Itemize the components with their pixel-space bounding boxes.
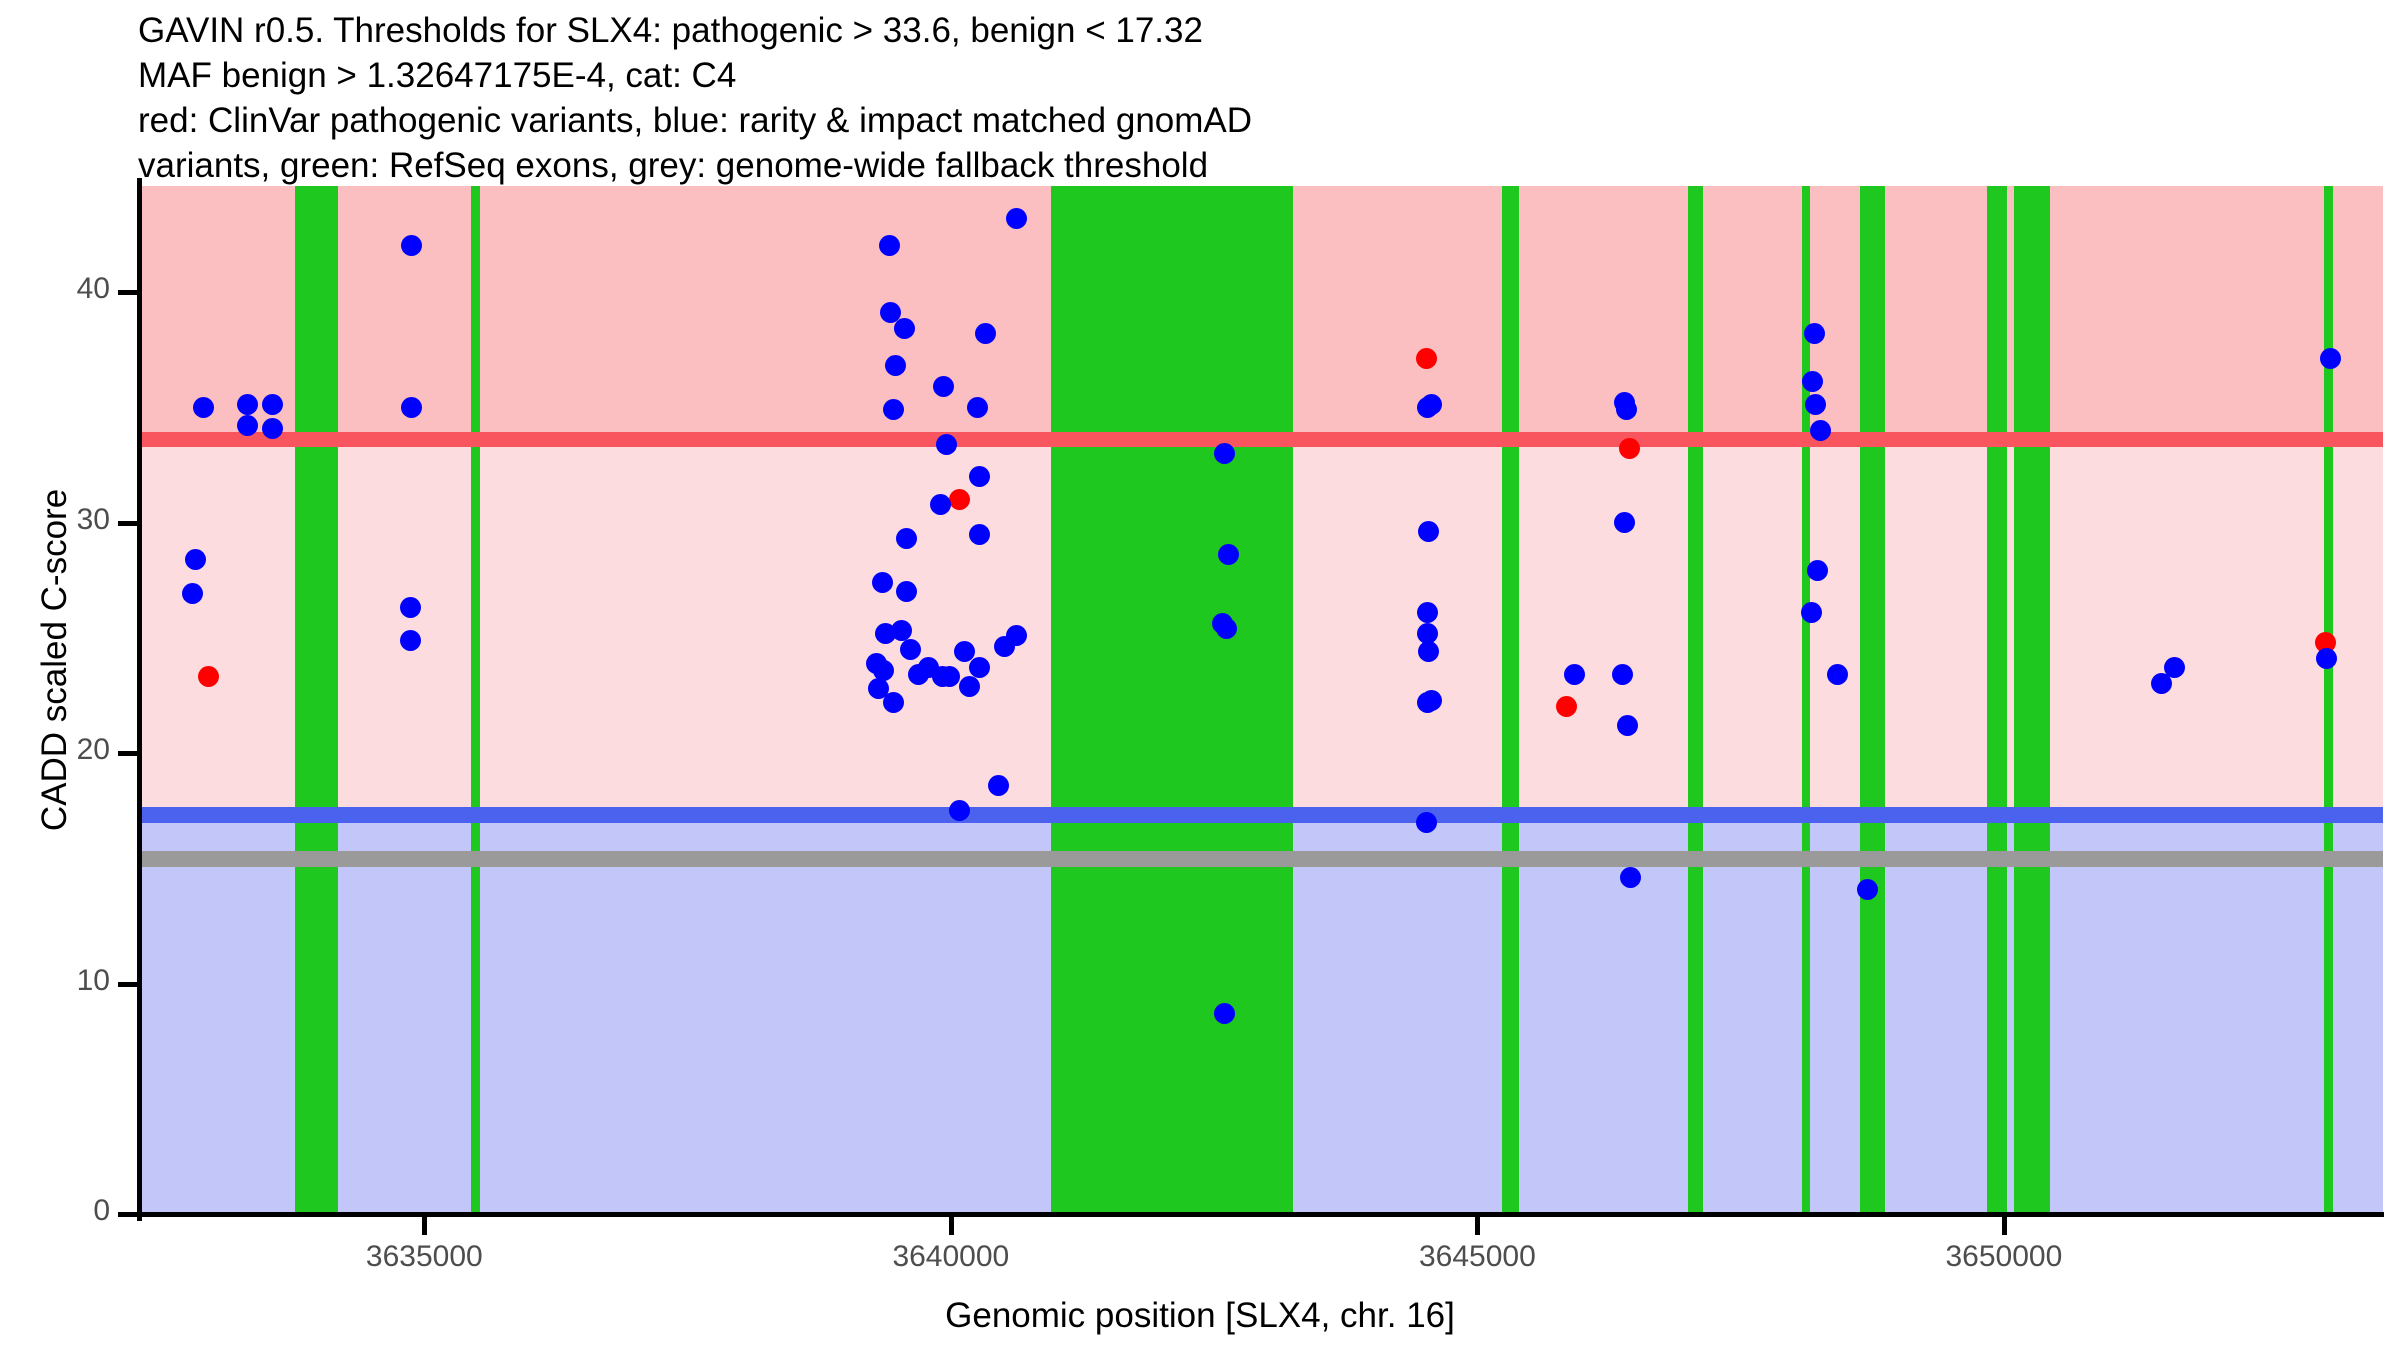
data-point-red — [949, 489, 970, 510]
exon-bar — [1688, 186, 1703, 1214]
data-point-blue — [2316, 648, 2337, 669]
data-point-blue — [401, 397, 422, 418]
data-point-blue — [954, 641, 975, 662]
data-point-blue — [949, 800, 970, 821]
x-tick — [2002, 1217, 2007, 1235]
data-point-blue — [262, 418, 283, 439]
data-point-blue — [936, 434, 957, 455]
data-point-blue — [1802, 371, 1823, 392]
y-tick — [118, 290, 138, 295]
chart-title: GAVIN r0.5. Thresholds for SLX4: pathoge… — [138, 8, 2138, 188]
exon-bar — [1987, 186, 2007, 1214]
data-point-blue — [1620, 867, 1641, 888]
x-tick — [949, 1217, 954, 1235]
x-tick — [422, 1217, 427, 1235]
y-axis-line — [137, 178, 142, 1221]
data-point-blue — [237, 415, 258, 436]
data-point-blue — [868, 678, 889, 699]
data-point-blue — [1801, 602, 1822, 623]
y-tick — [118, 751, 138, 756]
data-point-blue — [1804, 323, 1825, 344]
exon-bar — [2014, 186, 2050, 1214]
x-tick-label: 3650000 — [1884, 1240, 2124, 1274]
data-point-blue — [930, 494, 951, 515]
data-point-blue — [975, 323, 996, 344]
fallback-threshold-line — [140, 851, 2383, 867]
exon-bar — [1502, 186, 1520, 1214]
data-point-blue — [969, 524, 990, 545]
data-point-blue — [193, 397, 214, 418]
y-tick — [118, 982, 138, 987]
x-tick-label: 3635000 — [304, 1240, 544, 1274]
data-point-blue — [1827, 664, 1848, 685]
data-point-blue — [1214, 1003, 1235, 1024]
title-line-4: variants, green: RefSeq exons, grey: gen… — [138, 143, 2138, 188]
y-tick — [118, 521, 138, 526]
y-axis-title: CADD scaled C-score — [35, 260, 75, 1060]
data-point-red — [1619, 438, 1640, 459]
exon-bar — [1860, 186, 1885, 1214]
benign-threshold-line — [140, 807, 2383, 823]
data-point-blue — [400, 630, 421, 651]
data-point-blue — [1416, 812, 1437, 833]
title-line-3: red: ClinVar pathogenic variants, blue: … — [138, 98, 2138, 143]
exon-bar — [1051, 186, 1293, 1214]
data-point-blue — [988, 775, 1009, 796]
exon-bar — [2324, 186, 2333, 1214]
y-tick — [118, 1212, 138, 1217]
title-line-2: MAF benign > 1.32647175E-4, cat: C4 — [138, 53, 2138, 98]
plot-panel — [140, 186, 2383, 1214]
data-point-blue — [872, 572, 893, 593]
x-tick-label: 3645000 — [1357, 1240, 1597, 1274]
data-point-blue — [959, 676, 980, 697]
exon-bar — [295, 186, 338, 1214]
data-point-blue — [969, 466, 990, 487]
x-tick-label: 3640000 — [831, 1240, 1071, 1274]
data-point-blue — [969, 657, 990, 678]
x-tick — [1475, 1217, 1480, 1235]
data-point-blue — [885, 355, 906, 376]
data-point-blue — [1421, 394, 1442, 415]
data-point-blue — [875, 623, 896, 644]
data-point-blue — [1810, 420, 1831, 441]
pathogenic-threshold-line — [140, 432, 2383, 447]
data-point-blue — [900, 639, 921, 660]
data-point-blue — [1857, 879, 1878, 900]
title-line-1: GAVIN r0.5. Thresholds for SLX4: pathoge… — [138, 8, 2138, 53]
data-point-blue — [1564, 664, 1585, 685]
data-point-blue — [1006, 208, 1027, 229]
data-point-blue — [967, 397, 988, 418]
data-point-blue — [933, 376, 954, 397]
x-axis-line — [137, 1212, 2384, 1217]
chart-root: GAVIN r0.5. Thresholds for SLX4: pathoge… — [0, 0, 2400, 1350]
data-point-blue — [866, 653, 887, 674]
data-point-blue — [1214, 443, 1235, 464]
exon-bar — [471, 186, 480, 1214]
y-tick-label: 0 — [0, 1194, 110, 1228]
x-axis-title: Genomic position [SLX4, chr. 16] — [0, 1296, 2400, 1336]
